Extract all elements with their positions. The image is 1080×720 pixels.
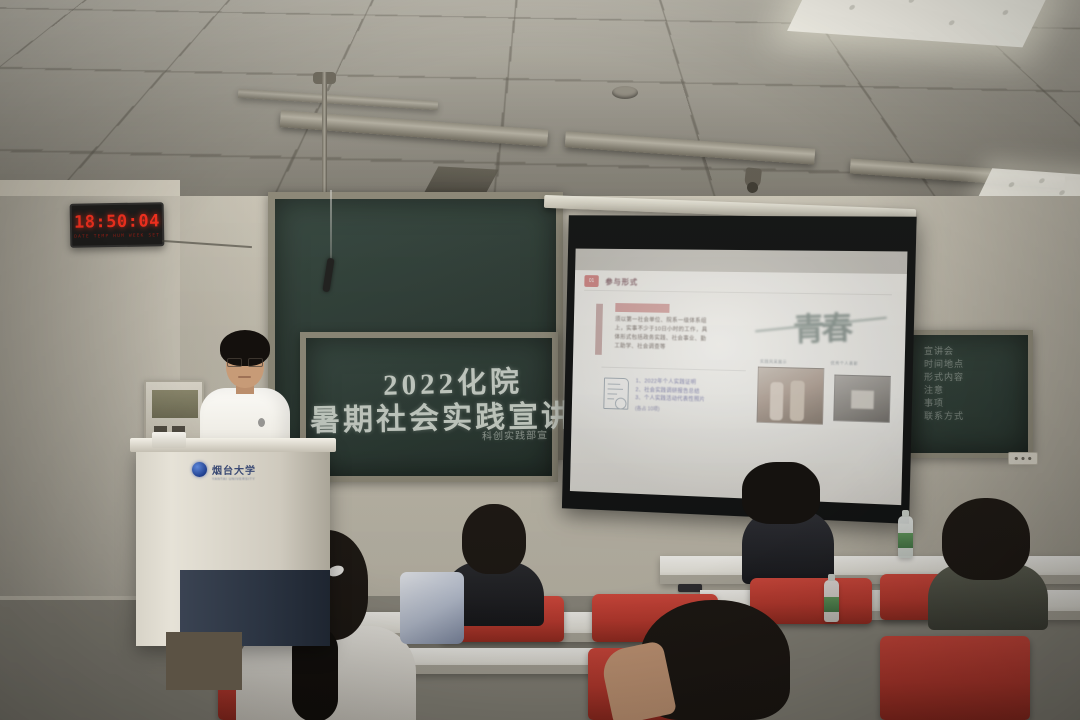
slide-accent-bar <box>595 304 603 355</box>
blackboard-signature: 科创实践部宣 <box>482 426 548 442</box>
slide-badge-icon: 01 <box>584 275 599 287</box>
outlet-sockets <box>1011 455 1035 462</box>
university-name-en: YANTAI UNIVERSITY <box>212 477 255 481</box>
student-seated <box>606 600 806 720</box>
cabinet-window <box>152 390 198 418</box>
slide-header-rule <box>584 290 892 295</box>
presenter-mouth <box>238 376 251 378</box>
thumbnail-caption-right: 优秀个人表彰 <box>831 360 859 367</box>
globe-icon <box>192 462 207 477</box>
podium-cups <box>152 432 186 448</box>
slide-body-text: 须以第一社会单位、院系一级体系组 上，实事不少于10日小时的工作，具 体形式包括… <box>614 316 734 354</box>
slide-body-line: 工助学、社会调查等 <box>614 342 733 354</box>
slide-divider <box>601 367 745 372</box>
digital-wall-clock: 18:50:04 DATE TEMP HUM WEEK SET <box>70 202 165 248</box>
slide-photo-thumbnail <box>833 375 891 423</box>
slide-requirement-list: 1、2022年个人实践证明 2、社会实践调研报告总结 3、个人实践活动代表性照片 <box>635 377 705 404</box>
lecture-hall-scene: 18:50:04 DATE TEMP HUM WEEK SET 宣讲会 时间地点… <box>0 0 1080 720</box>
shirt-emblem <box>258 418 265 427</box>
wall-outlet[interactable] <box>1008 452 1038 465</box>
slide-header-title: 参与形式 <box>605 276 638 287</box>
bottle-label <box>824 597 839 612</box>
projection-screen-surface: 01 参与形式 须以第一社会单位、院系一级体系组 上，实事不少于10日小时的工作… <box>570 249 908 506</box>
presentation-slide: 01 参与形式 须以第一社会单位、院系一级体系组 上，实事不少于10日小时的工作… <box>570 249 908 506</box>
glasses-icon <box>227 358 263 365</box>
slide-top-band <box>575 249 907 274</box>
phone-on-desk[interactable] <box>678 584 702 592</box>
lectern-podium: 烟台大学 YANTAI UNIVERSITY <box>136 446 330 646</box>
clock-time-display: 18:50:04 <box>74 211 160 232</box>
blackboard-right: 宣讲会 时间地点 形式内容 注意 事项 联系方式 <box>905 330 1033 458</box>
water-bottle[interactable] <box>898 516 913 558</box>
slide-note: (各占 10项) <box>635 405 660 413</box>
water-bottle[interactable] <box>824 580 839 622</box>
classroom-chair[interactable] <box>880 636 1030 720</box>
university-logo: 烟台大学 <box>192 462 256 477</box>
student-seated <box>928 498 1048 628</box>
clock-sub-label: DATE TEMP HUM WEEK SET <box>74 233 160 240</box>
bottle-label <box>898 533 913 548</box>
list-item: 3、个人实践活动代表性照片 <box>635 394 705 404</box>
hanging-microphone-cord <box>330 190 332 262</box>
slide-header: 01 参与形式 <box>584 275 638 288</box>
university-name: 烟台大学 <box>212 462 256 477</box>
slide-photo-thumbnail <box>757 367 825 425</box>
student-head <box>942 498 1030 580</box>
smoke-detector-icon <box>612 86 638 99</box>
slide-subtitle-bar <box>615 303 669 313</box>
document-line <box>607 398 614 399</box>
thumbnail-caption-left: 实践风采展示 <box>760 359 787 366</box>
pull-down-projection-screen: 01 参与形式 须以第一社会单位、院系一级体系组 上，实事不少于10日小时的工作… <box>562 215 917 524</box>
student-belongings <box>400 552 520 656</box>
blackboard-right-text: 宣讲会 时间地点 形式内容 注意 事项 联系方式 <box>924 345 964 423</box>
podium-foot <box>166 632 242 690</box>
bag-on-desk <box>400 572 464 644</box>
document-certificate-icon <box>603 378 629 410</box>
student-head <box>742 462 820 524</box>
